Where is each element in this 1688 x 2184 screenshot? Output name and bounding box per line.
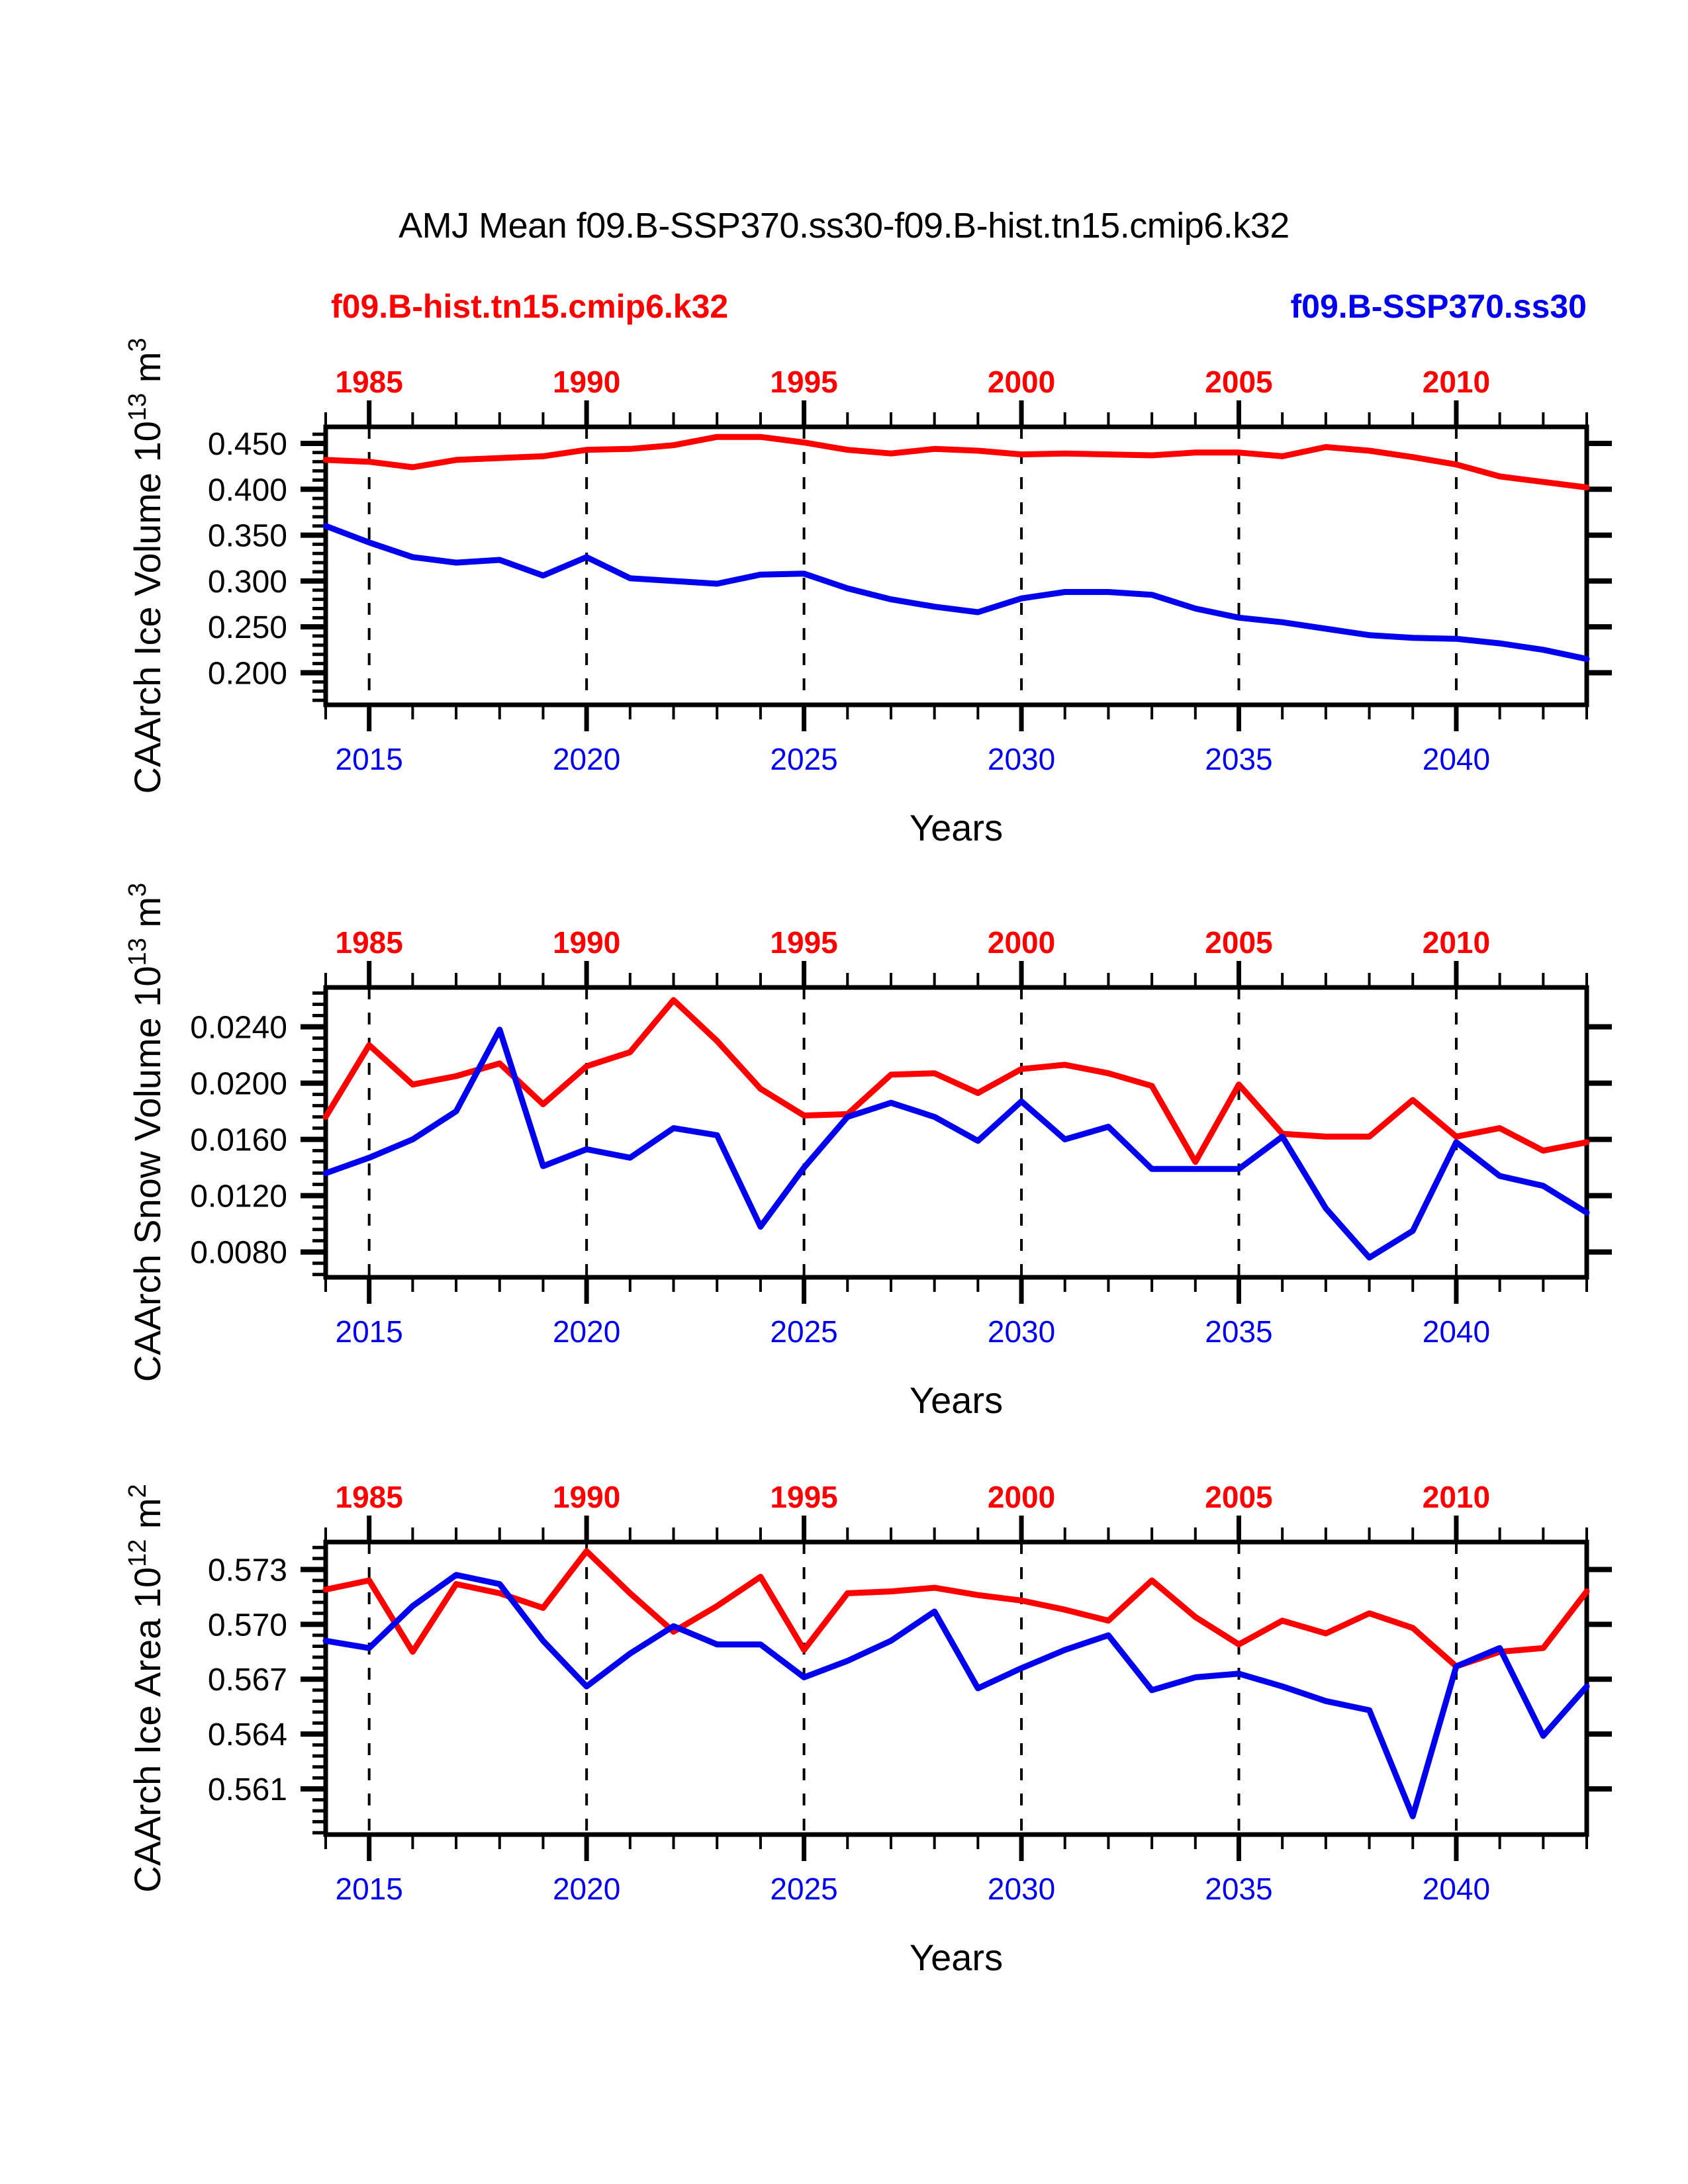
panel1-ytick-label: 0.350	[208, 519, 287, 554]
panel1-xbot-label: 2040	[1423, 742, 1490, 776]
panel1-xtop-label: 1995	[770, 365, 837, 399]
panel1-xbot-label: 2025	[770, 742, 837, 776]
panel1-ytick-label: 0.200	[208, 656, 287, 691]
panel2-xbot-label: 2040	[1423, 1314, 1490, 1349]
panel1-ytick-label: 0.400	[208, 473, 287, 508]
panel1-xtop-label: 1985	[336, 365, 403, 399]
panel1-ytick-label: 0.300	[208, 565, 287, 600]
panel1-ytick-label: 0.450	[208, 427, 287, 462]
panel2-ytick-label: 0.0200	[190, 1067, 287, 1102]
page-title: AMJ Mean f09.B-SSP370.ss30-f09.B-hist.tn…	[0, 205, 1688, 246]
panel1-xtop-label: 1990	[553, 365, 620, 399]
panel2-ytick-label: 0.0160	[190, 1123, 287, 1158]
panel2-ytick-label: 0.0120	[190, 1179, 287, 1214]
panel3-xbot-label: 2040	[1423, 1872, 1490, 1906]
panel3-ytick-label: 0.561	[208, 1772, 287, 1807]
panel3-yaxis-label: CAArch Ice Area 1012 m2	[124, 1484, 168, 1892]
panel2-xtop-label: 2010	[1423, 925, 1490, 960]
panel3-ytick-label: 0.567	[208, 1662, 287, 1698]
panel3-xtop-label: 2000	[988, 1480, 1055, 1514]
panel1-xbot-label: 2035	[1205, 742, 1272, 776]
panel3-ytick-label: 0.570	[208, 1608, 287, 1643]
panel3-plot-frame	[326, 1542, 1587, 1835]
panel1-xbot-label: 2030	[988, 742, 1055, 776]
panel1-xtop-label: 2000	[988, 365, 1055, 399]
panel3-xbot-label: 2015	[336, 1872, 403, 1906]
panel1-xbot-label: 2020	[553, 742, 620, 776]
panel3-xbot-label: 2035	[1205, 1872, 1272, 1906]
panel2-yaxis-label: CAArch Snow Volume 1013 m3	[124, 883, 168, 1382]
panel3-xtop-label: 2005	[1205, 1480, 1272, 1514]
panel1-xaxis-label: Years	[910, 807, 1003, 848]
panel2-ytick-label: 0.0080	[190, 1236, 287, 1271]
panel1-series-ssp370	[326, 526, 1587, 659]
panel2-series-ssp370	[326, 1030, 1587, 1257]
panel3-xbot-label: 2025	[770, 1872, 837, 1906]
panel2-xtop-label: 1985	[336, 925, 403, 960]
panel1-xtop-label: 2005	[1205, 365, 1272, 399]
panel3-xaxis-label: Years	[910, 1936, 1003, 1978]
multi-panel-chart: f09.B-hist.tn15.cmip6.k32f09.B-SSP370.ss…	[0, 0, 1688, 2184]
panel3-series-ssp370	[326, 1575, 1587, 1817]
panel3-ytick-label: 0.564	[208, 1717, 287, 1752]
panel2-xtop-label: 2000	[988, 925, 1055, 960]
panel3-xtop-label: 2010	[1423, 1480, 1490, 1514]
panel3-xtop-label: 1985	[336, 1480, 403, 1514]
panel2-xtop-label: 2005	[1205, 925, 1272, 960]
legend-label-hist: f09.B-hist.tn15.cmip6.k32	[331, 288, 728, 325]
panel2-ytick-label: 0.0240	[190, 1011, 287, 1046]
panel1-xbot-label: 2015	[336, 742, 403, 776]
panel2-xbot-label: 2030	[988, 1314, 1055, 1349]
panel3-ytick-label: 0.573	[208, 1553, 287, 1588]
panel2-xaxis-label: Years	[910, 1379, 1003, 1421]
panel3-xtop-label: 1990	[553, 1480, 620, 1514]
panel2-plot-frame	[326, 987, 1587, 1277]
panel2-xbot-label: 2025	[770, 1314, 837, 1349]
panel3-xtop-label: 1995	[770, 1480, 837, 1514]
panel3-xbot-label: 2030	[988, 1872, 1055, 1906]
legend-label-ssp: f09.B-SSP370.ss30	[1290, 288, 1587, 325]
panel1-ytick-label: 0.250	[208, 610, 287, 645]
figure-root: AMJ Mean f09.B-SSP370.ss30-f09.B-hist.tn…	[0, 0, 1688, 2184]
panel2-xbot-label: 2020	[553, 1314, 620, 1349]
panel2-xbot-label: 2035	[1205, 1314, 1272, 1349]
panel1-series-hist	[326, 437, 1587, 487]
panel3-xbot-label: 2020	[553, 1872, 620, 1906]
panel2-xbot-label: 2015	[336, 1314, 403, 1349]
panel1-xtop-label: 2010	[1423, 365, 1490, 399]
panel2-xtop-label: 1995	[770, 925, 837, 960]
panel1-yaxis-label: CAArch Ice Volume 1013 m3	[124, 338, 168, 794]
panel2-xtop-label: 1990	[553, 925, 620, 960]
